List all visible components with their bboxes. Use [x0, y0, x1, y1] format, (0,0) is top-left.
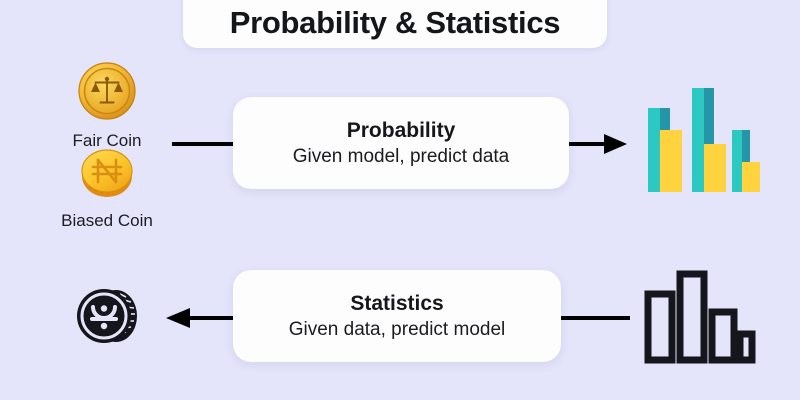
- biased-coin-group: Biased Coin: [42, 140, 172, 229]
- naira-coin-icon: [76, 140, 138, 207]
- scale-coin-icon: [76, 60, 138, 127]
- probability-card: Probability Given model, predict data: [233, 97, 569, 189]
- page-title: Probability & Statistics: [230, 0, 560, 38]
- biased-coin-label: Biased Coin: [61, 212, 153, 229]
- title-card: Probability & Statistics: [183, 0, 607, 48]
- statistics-card: Statistics Given data, predict model: [233, 270, 561, 362]
- dark-coin-stack-icon: [74, 280, 146, 357]
- bar-chart-outline-icon: [644, 268, 756, 369]
- statistics-card-subtitle: Given data, predict model: [289, 320, 506, 341]
- bar-chart-icon: [636, 86, 760, 199]
- statistics-card-title: Statistics: [350, 292, 443, 315]
- probability-card-subtitle: Given model, predict data: [293, 147, 510, 168]
- fair-coin-group: Fair Coin: [42, 60, 172, 149]
- probability-card-title: Probability: [347, 119, 456, 142]
- infographic-canvas: Probability & Statistics: [0, 0, 800, 400]
